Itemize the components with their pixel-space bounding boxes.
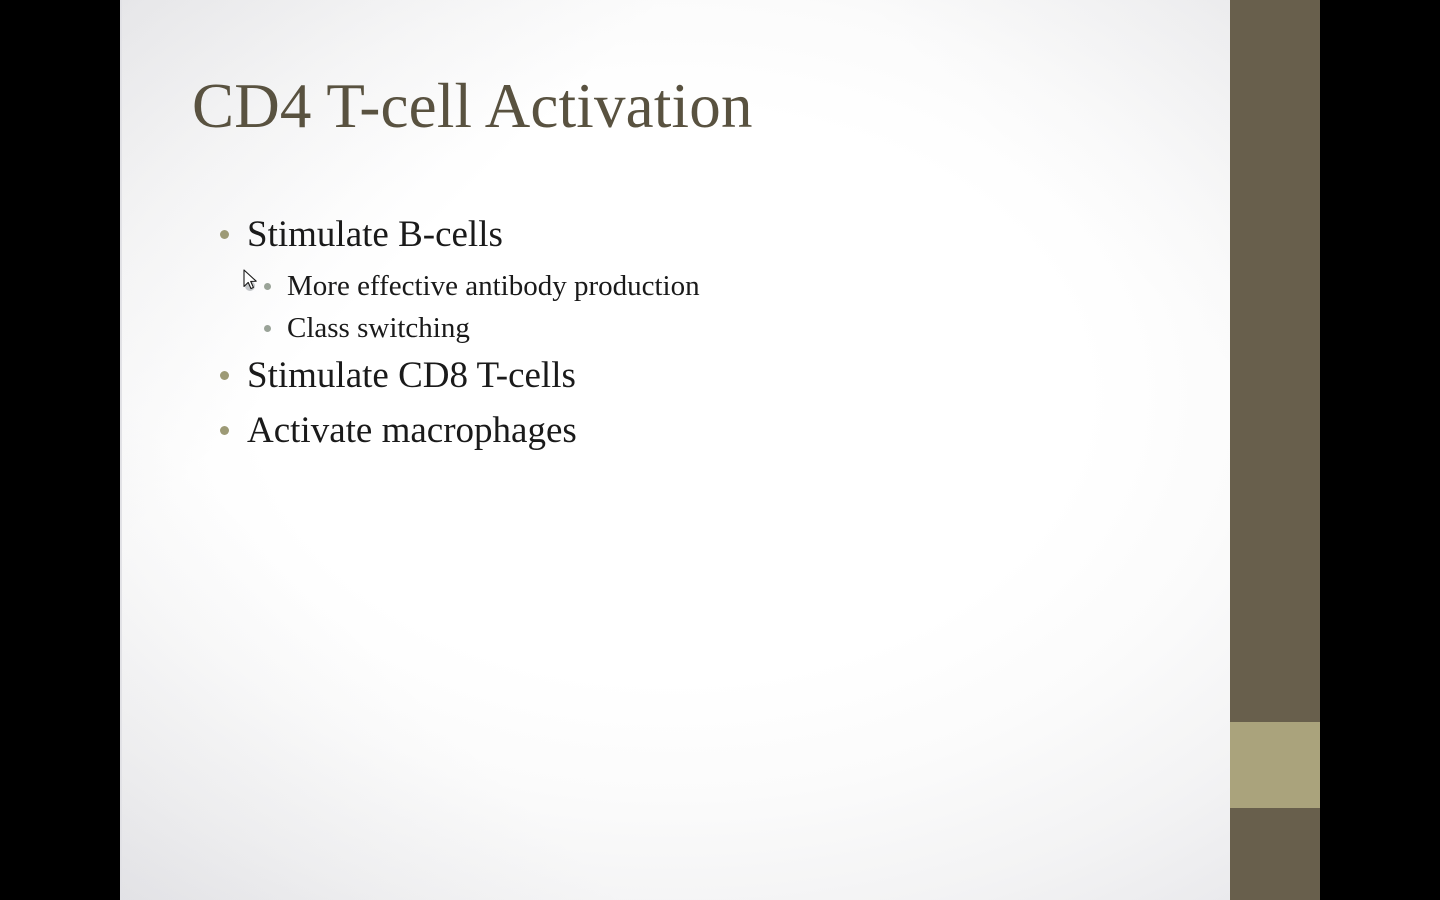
bullet-dot-icon [220,371,229,380]
presentation-viewport: CD4 T-cell Activation Stimulate B-cells … [0,0,1440,900]
list-item: Stimulate B-cells [192,212,1192,259]
bullet-dot-icon [220,426,229,435]
list-item: More effective antibody production [192,268,1192,305]
slide-canvas[interactable]: CD4 T-cell Activation Stimulate B-cells … [120,0,1320,900]
list-item-label: More effective antibody production [287,268,700,305]
list-item-label: Class switching [287,310,470,347]
bullet-dot-small-icon [264,325,271,332]
slide-left-edge [120,0,122,900]
letterbox-right [1320,0,1440,900]
list-item: Stimulate CD8 T-cells [192,353,1192,400]
list-item-label: Stimulate B-cells [247,212,503,259]
bullet-dot-small-icon [264,283,271,290]
list-item: Activate macrophages [192,408,1192,455]
letterbox-left [0,0,120,900]
bullet-dot-icon [220,230,229,239]
slide-sidebar-accent-block [1230,722,1320,808]
slide-body-list: Stimulate B-cells More effective antibod… [192,212,1192,464]
list-item: Class switching [192,310,1192,347]
page-title: CD4 T-cell Activation [192,72,1232,140]
list-item-label: Stimulate CD8 T-cells [247,353,576,400]
list-item-label: Activate macrophages [247,408,577,455]
